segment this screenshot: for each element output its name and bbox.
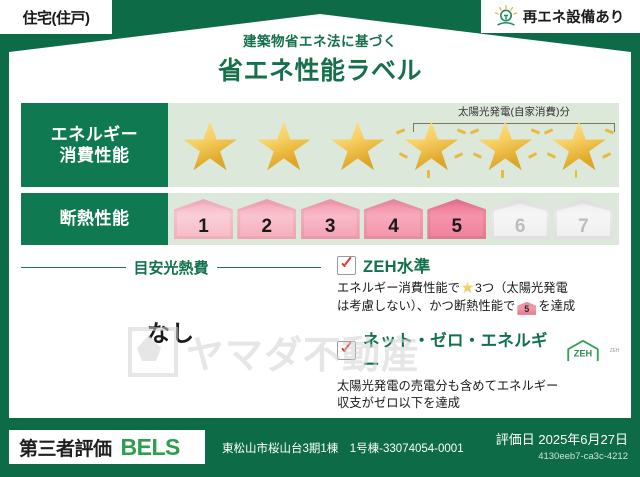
ray-icon	[399, 152, 408, 158]
bels-badge: 第三者評価 BELS	[9, 430, 205, 464]
check-icon	[337, 341, 356, 360]
star-item-solar	[545, 114, 613, 176]
insulation-level-inactive: 6	[491, 199, 550, 239]
star-item	[324, 114, 392, 176]
insulation-level-scale: 1 2 3 4 5 6 7	[174, 193, 613, 245]
ray-icon	[454, 152, 463, 158]
insulation-badge-icon: 5	[517, 302, 536, 315]
insulation-level-value: 2	[262, 217, 273, 236]
insulation-level: 2	[237, 199, 296, 239]
insulation-level-value: 3	[325, 217, 336, 236]
star-item-solar	[397, 114, 465, 176]
energy-performance-label-box: エネルギー 消費性能	[21, 103, 168, 187]
bottom-section: 目安光熱費 なし ZEH水準 エネルギー消費性能で3つ（太陽光発電 は考慮しない…	[21, 253, 619, 403]
insulation-level-value: 6	[515, 217, 526, 236]
ray-icon	[396, 128, 405, 134]
utility-cost-value: なし	[21, 314, 321, 348]
ray-icon	[427, 170, 430, 178]
utility-cost-heading: 目安光熱費	[21, 257, 321, 278]
star-icon	[551, 120, 607, 174]
ray-icon	[605, 128, 614, 134]
net-zero-desc-line1: 太陽光発電の売電分も含めてエネルギー	[337, 379, 558, 393]
utility-cost-heading-text: 目安光熱費	[134, 257, 209, 278]
sun-icon	[493, 4, 519, 30]
zeh-desc-line2-part1: は考慮しない）、かつ断熱性能で	[337, 299, 515, 313]
zeh-desc-part1: エネルギー消費性能で	[337, 281, 460, 295]
insulation-level-value: 4	[388, 217, 399, 236]
ray-icon	[457, 128, 466, 134]
insulation-scale-field: 1 2 3 4 5 6 7	[168, 193, 619, 245]
ray-icon	[473, 152, 482, 158]
zeh-pane: ZEH水準 エネルギー消費性能で3つ（太陽光発電 は考慮しない）、かつ断熱性能で…	[337, 253, 619, 403]
ray-icon	[528, 152, 537, 158]
insulation-level: 4	[364, 199, 423, 239]
star-icon	[461, 281, 474, 294]
insulation-level-inactive: 7	[554, 199, 613, 239]
zeh-standard-description: エネルギー消費性能で3つ（太陽光発電 は考慮しない）、かつ断熱性能で5を達成	[337, 280, 619, 316]
star-icon	[256, 120, 312, 174]
rule-left	[21, 267, 126, 269]
net-zero-description: 太陽光発電の売電分も含めてエネルギー 収支がゼロ以下を達成	[337, 378, 619, 414]
star-icon	[477, 120, 533, 174]
insulation-label-text: 断熱性能	[60, 208, 130, 229]
ray-icon	[531, 128, 540, 134]
footer: 第三者評価 BELS 東松山市桜山台3期1棟 1号棟-33074054-0001…	[0, 418, 640, 477]
insulation-performance-row: 断熱性能 1 2 3 4 5 6 7	[21, 193, 619, 245]
evaluation-date: 評価日 2025年6月27日	[496, 429, 628, 448]
energy-label-line2: 消費性能	[60, 145, 130, 166]
title-block: 建築物省エネ法に基づく 省エネ性能ラベル	[0, 30, 640, 87]
energy-star-field: 太陽光発電(自家消費)分	[168, 103, 619, 187]
zeh-logo-icon: ZEH	[564, 339, 602, 363]
check-icon	[337, 256, 356, 275]
net-zero-head: ネット・ゼロ・エネルギー ZEH ZEH	[337, 327, 619, 375]
star-item	[176, 114, 244, 176]
energy-performance-row: エネルギー 消費性能 太陽光発電(自家消費)分	[21, 103, 619, 187]
ray-icon	[544, 128, 553, 134]
star-item	[250, 114, 318, 176]
bels-label-text: 第三者評価	[19, 434, 112, 461]
zeh-standard-block: ZEH水準 エネルギー消費性能で3つ（太陽光発電 は考慮しない）、かつ断熱性能で…	[337, 253, 619, 316]
zeh-desc-part2: 3つ（太陽光発電	[475, 281, 568, 295]
ray-icon	[501, 170, 504, 178]
dwelling-type-tag: 住宅(住戸)	[0, 0, 112, 34]
star-icon	[403, 120, 459, 174]
energy-label-line1: エネルギー	[51, 124, 139, 145]
net-zero-desc-line2: 収支がゼロ以下を達成	[337, 396, 460, 410]
zeh-standard-title: ZEH水準	[363, 253, 431, 277]
star-rating	[176, 103, 613, 187]
net-zero-title: ネット・ゼロ・エネルギー	[363, 327, 553, 375]
page-title: 省エネ性能ラベル	[0, 51, 640, 87]
insulation-level-value: 1	[198, 217, 209, 236]
utility-cost-pane: 目安光熱費 なし	[21, 253, 321, 403]
renewable-equipment-text: 再エネ設備あり	[523, 6, 625, 27]
zeh-logo-caption: ZEH	[610, 348, 619, 354]
bels-logo-text: BELS	[121, 434, 180, 461]
insulation-level-achieved: 5	[427, 199, 486, 239]
property-address: 東松山市桜山台3期1棟 1号棟-33074054-0001	[222, 440, 464, 456]
insulation-level: 1	[174, 199, 233, 239]
insulation-level-value: 7	[578, 217, 589, 236]
document-id: 4130eeb7-ca3c-4212	[496, 451, 628, 462]
insulation-performance-label-box: 断熱性能	[21, 193, 168, 245]
insulation-level: 3	[301, 199, 360, 239]
ray-icon	[602, 152, 611, 158]
energy-performance-label: 住宅(住戸) 再エネ設備あり 建築物省エネ法に基づく 省エネ性能ラベル	[0, 0, 640, 477]
renewable-equipment-tag: 再エネ設備あり	[481, 0, 640, 33]
star-icon	[182, 120, 238, 174]
star-icon	[330, 120, 386, 174]
zeh-standard-head: ZEH水準	[337, 253, 619, 277]
ray-icon	[470, 128, 479, 134]
title-subtitle: 建築物省エネ法に基づく	[0, 30, 640, 50]
rule-right	[217, 267, 322, 269]
insulation-level-value: 5	[452, 217, 463, 236]
svg-text:ZEH: ZEH	[573, 348, 592, 358]
footer-meta: 評価日 2025年6月27日 4130eeb7-ca3c-4212	[496, 429, 628, 462]
ray-icon	[547, 152, 556, 158]
label-card: エネルギー 消費性能 太陽光発電(自家消費)分	[9, 96, 631, 418]
ray-icon	[575, 170, 578, 178]
star-item-solar	[471, 114, 539, 176]
zeh-desc-line2-part2: を達成	[538, 299, 575, 313]
dwelling-type-text: 住宅(住戸)	[23, 7, 90, 28]
net-zero-energy-block: ネット・ゼロ・エネルギー ZEH ZEH 太陽光発電の売電分も含めてエネルギー …	[337, 327, 619, 414]
